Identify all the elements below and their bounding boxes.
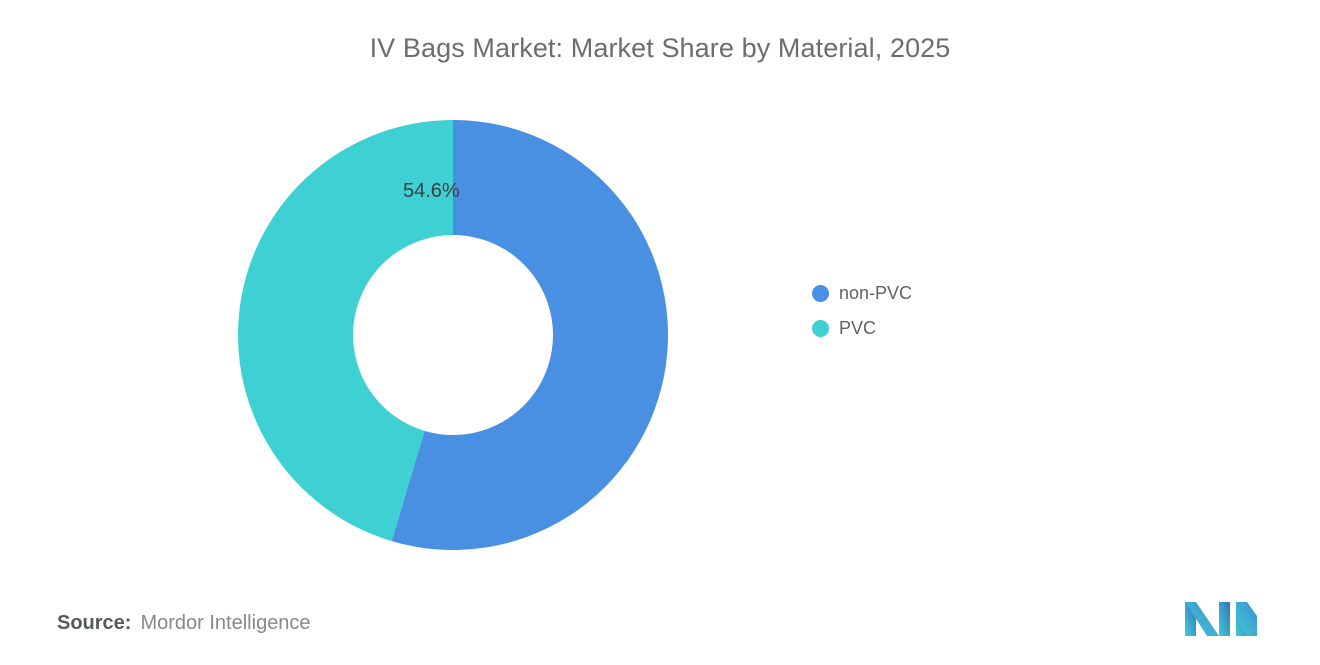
source-label: Source: [57,612,131,635]
legend-swatch-icon [812,320,829,337]
donut-chart: 54.6% [238,120,668,550]
chart-legend: non-PVC PVC [812,284,912,337]
mordor-intelligence-logo-icon [1183,596,1259,640]
source-attribution: Source: Mordor Intelligence [57,612,311,635]
legend-item-non-pvc[interactable]: non-PVC [812,284,912,302]
slice-label-non-pvc: 54.6% [403,180,460,203]
source-value: Mordor Intelligence [140,612,310,635]
chart-title: IV Bags Market: Market Share by Material… [0,28,1320,68]
legend-label-pvc: PVC [839,319,876,337]
legend-item-pvc[interactable]: PVC [812,319,912,337]
chart-container: IV Bags Market: Market Share by Material… [0,0,1320,665]
legend-swatch-icon [812,285,829,302]
legend-label-non-pvc: non-PVC [839,284,912,302]
